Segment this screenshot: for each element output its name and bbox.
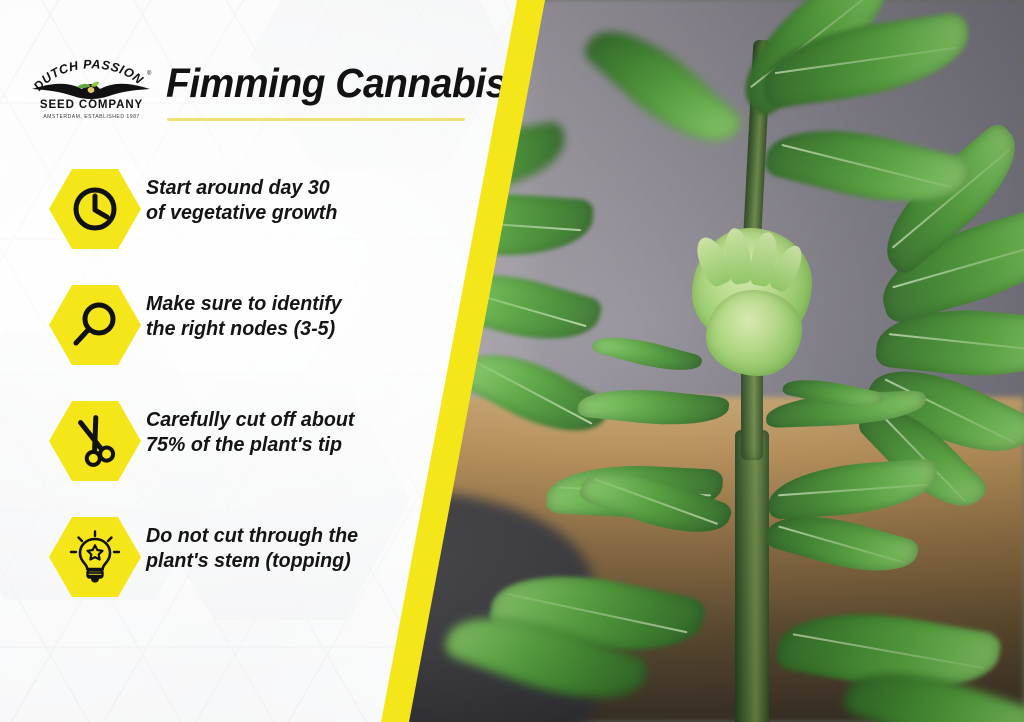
tip-icon-badge-3 (49, 401, 141, 481)
clock-icon (70, 184, 120, 234)
tip-text-1: Start around day 30 of vegetative growth (146, 175, 405, 225)
tip-icon-badge-4 (49, 517, 141, 597)
svg-text:®: ® (147, 70, 152, 77)
tip-text-4-line1: Do not cut through the (146, 523, 405, 548)
list-item: Do not cut through the plant's stem (top… (0, 511, 430, 627)
tip-text-2: Make sure to identify the right nodes (3… (146, 291, 405, 341)
tips-list: Start around day 30 of vegetative growth… (0, 163, 430, 627)
scissors-icon (70, 415, 120, 467)
tip-text-4: Do not cut through the plant's stem (top… (146, 523, 405, 573)
tip-text-3-line1: Carefully cut off about (146, 407, 405, 432)
title-underline (167, 118, 465, 121)
tip-text-4-line2: plant's stem (topping) (146, 548, 405, 573)
tip-icon-badge-2 (49, 285, 141, 365)
tip-text-1-line1: Start around day 30 (146, 175, 405, 200)
page-title: Fimming Cannabis (166, 60, 507, 107)
infographic-root: DUTCH PASSION ® SEED COMPANY AMSTERDAM, … (0, 0, 1024, 722)
magnifier-icon (70, 300, 120, 350)
tip-text-2-line1: Make sure to identify (146, 291, 405, 316)
list-item: Carefully cut off about 75% of the plant… (0, 395, 430, 511)
flying-bird-logo-icon: DUTCH PASSION ® (29, 56, 154, 102)
tip-text-2-line2: the right nodes (3-5) (146, 316, 405, 341)
header: DUTCH PASSION ® SEED COMPANY AMSTERDAM, … (0, 0, 520, 150)
tip-text-3: Carefully cut off about 75% of the plant… (146, 407, 405, 457)
dutch-passion-logo[interactable]: DUTCH PASSION ® SEED COMPANY AMSTERDAM, … (29, 56, 154, 128)
list-item: Make sure to identify the right nodes (3… (0, 279, 430, 395)
tip-text-1-line2: of vegetative growth (146, 200, 405, 225)
tip-icon-badge-1 (49, 169, 141, 249)
logo-tagline: AMSTERDAM, ESTABLISHED 1987 (29, 114, 154, 120)
list-item: Start around day 30 of vegetative growth (0, 163, 430, 279)
logo-subtitle: SEED COMPANY (29, 99, 154, 111)
lightbulb-star-icon (68, 530, 122, 584)
tip-text-3-line2: 75% of the plant's tip (146, 432, 405, 457)
